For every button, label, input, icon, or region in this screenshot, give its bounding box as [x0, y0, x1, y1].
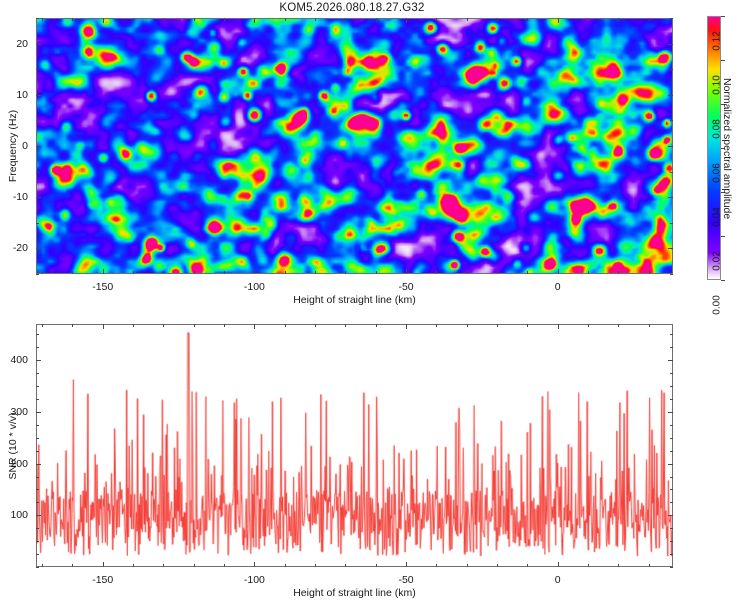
x-tick — [558, 562, 559, 567]
x-minor-tick — [467, 564, 468, 567]
x-minor-tick — [163, 271, 164, 274]
y-tick-label: 10 — [0, 89, 28, 101]
x-minor-tick — [315, 18, 316, 21]
x-minor-tick — [345, 324, 346, 327]
x-minor-tick — [163, 18, 164, 21]
x-minor-tick — [497, 18, 498, 21]
y-tick — [668, 412, 673, 413]
y-tick-label: 100 — [0, 509, 28, 521]
x-minor-tick — [527, 271, 528, 274]
x-minor-tick — [618, 271, 619, 274]
colorbar-tick — [721, 280, 725, 281]
x-minor-tick — [497, 564, 498, 567]
snr-plot-area — [36, 324, 673, 567]
y-tick-label: -10 — [0, 191, 28, 203]
x-minor-tick — [285, 18, 286, 21]
y-minor-tick — [36, 386, 39, 387]
x-tick — [558, 18, 559, 23]
y-tick — [668, 360, 673, 361]
colorbar-label: Normalized spectral amplitude — [721, 78, 733, 219]
x-minor-tick — [194, 564, 195, 567]
x-minor-tick — [194, 324, 195, 327]
x-axis-label: Height of straight line (km) — [293, 587, 416, 599]
y-tick-label: -20 — [0, 242, 28, 254]
x-tick — [406, 18, 407, 23]
y-minor-tick — [670, 69, 673, 70]
x-minor-tick — [133, 271, 134, 274]
x-minor-tick — [42, 564, 43, 567]
y-minor-tick — [670, 489, 673, 490]
x-minor-tick — [345, 564, 346, 567]
y-minor-tick — [36, 172, 39, 173]
y-minor-tick — [670, 528, 673, 529]
y-tick — [36, 146, 41, 147]
y-tick — [36, 197, 41, 198]
y-minor-tick — [36, 528, 39, 529]
y-minor-tick — [36, 334, 39, 335]
x-tick — [558, 324, 559, 329]
y-tick — [36, 44, 41, 45]
x-minor-tick — [436, 324, 437, 327]
y-minor-tick — [36, 567, 39, 568]
x-minor-tick — [436, 18, 437, 21]
y-tick-label: 20 — [0, 38, 28, 50]
x-tick — [406, 269, 407, 274]
y-minor-tick — [36, 223, 39, 224]
x-minor-tick — [224, 18, 225, 21]
x-minor-tick — [527, 324, 528, 327]
x-minor-tick — [133, 564, 134, 567]
colorbar-tick-label: 0.02 — [711, 251, 722, 270]
x-minor-tick — [527, 18, 528, 21]
y-minor-tick — [36, 502, 39, 503]
x-tick-label: -150 — [92, 574, 113, 586]
x-tick — [254, 324, 255, 329]
y-minor-tick — [670, 541, 673, 542]
colorbar-tick — [721, 236, 725, 237]
x-minor-tick — [588, 271, 589, 274]
y-minor-tick — [670, 477, 673, 478]
colorbar-tick — [721, 60, 725, 61]
y-minor-tick — [36, 451, 39, 452]
y-tick — [668, 464, 673, 465]
x-minor-tick — [42, 271, 43, 274]
x-minor-tick — [133, 18, 134, 21]
y-minor-tick — [670, 18, 673, 19]
x-minor-tick — [588, 564, 589, 567]
x-tick — [558, 269, 559, 274]
x-minor-tick — [42, 18, 43, 21]
x-minor-tick — [315, 564, 316, 567]
spectrogram-plot-area — [36, 18, 673, 274]
x-minor-tick — [285, 271, 286, 274]
x-minor-tick — [72, 324, 73, 327]
y-axis-label: SNR (10 * v/v) — [7, 412, 19, 479]
y-minor-tick — [36, 69, 39, 70]
x-minor-tick — [376, 324, 377, 327]
y-minor-tick — [36, 18, 39, 19]
y-minor-tick — [670, 502, 673, 503]
x-minor-tick — [224, 564, 225, 567]
y-minor-tick — [670, 567, 673, 568]
y-minor-tick — [36, 477, 39, 478]
y-minor-tick — [36, 373, 39, 374]
y-minor-tick — [670, 425, 673, 426]
y-axis-label: Frequency (Hz) — [7, 110, 19, 182]
x-minor-tick — [72, 564, 73, 567]
x-minor-tick — [649, 18, 650, 21]
x-minor-tick — [376, 271, 377, 274]
x-minor-tick — [315, 271, 316, 274]
x-tick — [103, 18, 104, 23]
x-minor-tick — [345, 271, 346, 274]
x-tick — [406, 562, 407, 567]
y-tick — [668, 248, 673, 249]
y-minor-tick — [36, 347, 39, 348]
x-minor-tick — [315, 324, 316, 327]
x-tick-label: -50 — [398, 574, 413, 586]
x-minor-tick — [285, 324, 286, 327]
y-minor-tick — [670, 334, 673, 335]
x-tick-label: -100 — [244, 281, 265, 293]
x-tick — [254, 269, 255, 274]
x-minor-tick — [497, 324, 498, 327]
x-minor-tick — [133, 324, 134, 327]
x-minor-tick — [345, 18, 346, 21]
x-minor-tick — [376, 564, 377, 567]
x-minor-tick — [467, 18, 468, 21]
x-tick — [103, 269, 104, 274]
colorbar-tick-label: 0.00 — [711, 295, 722, 314]
x-minor-tick — [72, 271, 73, 274]
y-minor-tick — [670, 172, 673, 173]
snr-trace — [37, 325, 672, 566]
x-tick-label: -100 — [244, 574, 265, 586]
y-tick — [36, 248, 41, 249]
x-minor-tick — [194, 18, 195, 21]
x-minor-tick — [649, 324, 650, 327]
y-minor-tick — [670, 223, 673, 224]
y-minor-tick — [36, 554, 39, 555]
y-tick — [668, 515, 673, 516]
x-minor-tick — [467, 324, 468, 327]
x-minor-tick — [376, 18, 377, 21]
x-minor-tick — [497, 271, 498, 274]
y-tick — [668, 95, 673, 96]
x-axis-label: Height of straight line (km) — [293, 294, 416, 306]
x-minor-tick — [649, 564, 650, 567]
x-tick — [103, 324, 104, 329]
x-minor-tick — [618, 18, 619, 21]
x-minor-tick — [224, 324, 225, 327]
y-tick-label: 400 — [0, 354, 28, 366]
x-minor-tick — [588, 324, 589, 327]
x-minor-tick — [42, 324, 43, 327]
y-minor-tick — [36, 438, 39, 439]
x-minor-tick — [163, 324, 164, 327]
y-minor-tick — [36, 274, 39, 275]
y-tick — [36, 95, 41, 96]
y-tick — [36, 412, 41, 413]
y-minor-tick — [36, 541, 39, 542]
x-minor-tick — [527, 564, 528, 567]
x-tick-label: 0 — [555, 281, 561, 293]
y-tick — [36, 464, 41, 465]
y-minor-tick — [36, 489, 39, 490]
x-tick-label: 0 — [555, 574, 561, 586]
x-minor-tick — [649, 271, 650, 274]
x-minor-tick — [436, 564, 437, 567]
y-minor-tick — [36, 120, 39, 121]
y-minor-tick — [670, 373, 673, 374]
x-minor-tick — [588, 18, 589, 21]
colorbar-tick-label: 0.12 — [711, 31, 722, 50]
y-minor-tick — [670, 399, 673, 400]
y-minor-tick — [36, 425, 39, 426]
y-minor-tick — [670, 347, 673, 348]
x-tick — [406, 324, 407, 329]
colorbar-tick — [721, 16, 725, 17]
y-tick — [668, 197, 673, 198]
colorbar — [707, 16, 721, 280]
figure-canvas: KOM5.2026.080.18.27.G32 -150-100-5002010… — [0, 0, 750, 600]
y-tick — [668, 146, 673, 147]
x-minor-tick — [618, 324, 619, 327]
x-minor-tick — [467, 271, 468, 274]
x-tick — [254, 562, 255, 567]
y-minor-tick — [670, 451, 673, 452]
y-minor-tick — [36, 399, 39, 400]
y-tick — [36, 515, 41, 516]
colorbar-gradient — [708, 17, 720, 279]
x-minor-tick — [436, 271, 437, 274]
x-tick-label: -150 — [92, 281, 113, 293]
y-minor-tick — [670, 386, 673, 387]
y-minor-tick — [670, 120, 673, 121]
spectrogram-image — [37, 19, 672, 273]
x-minor-tick — [163, 564, 164, 567]
x-minor-tick — [224, 271, 225, 274]
page-title: KOM5.2026.080.18.27.G32 — [0, 2, 704, 14]
y-tick — [668, 44, 673, 45]
x-minor-tick — [72, 18, 73, 21]
y-minor-tick — [670, 274, 673, 275]
x-minor-tick — [285, 564, 286, 567]
x-minor-tick — [194, 271, 195, 274]
x-tick-label: -50 — [398, 281, 413, 293]
x-tick — [103, 562, 104, 567]
x-tick — [254, 18, 255, 23]
y-minor-tick — [670, 554, 673, 555]
y-minor-tick — [670, 438, 673, 439]
y-tick — [36, 360, 41, 361]
x-minor-tick — [618, 564, 619, 567]
